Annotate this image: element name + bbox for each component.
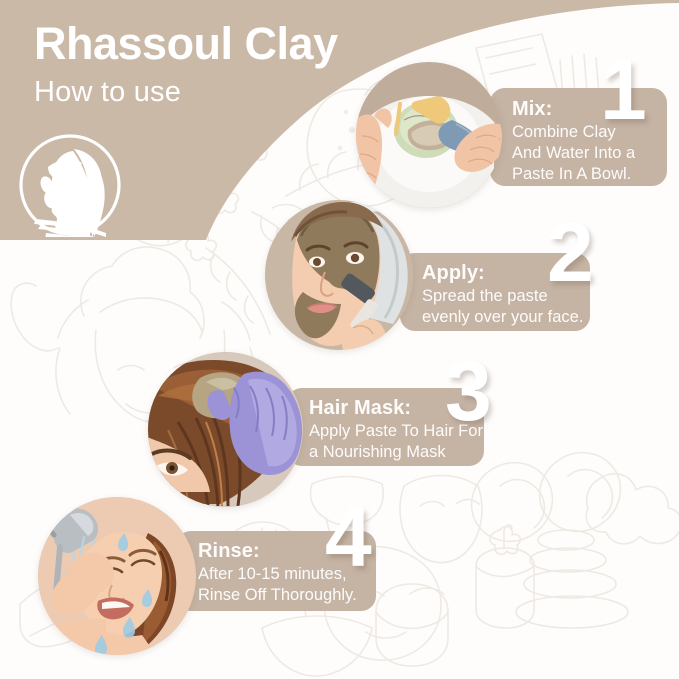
step-1-body: Combine Clay And Water Into a Paste In A… bbox=[512, 122, 667, 185]
step-2-body: Spread the paste evenly over your face. bbox=[422, 286, 590, 328]
step-2-text-box: Apply: Spread the paste evenly over your… bbox=[400, 253, 590, 331]
page-subtitle-white-overlay: How to use bbox=[34, 76, 181, 109]
page-title-white-overlay: Rhassoul Clay bbox=[34, 17, 338, 70]
rinsing-in-shower-photo bbox=[38, 497, 196, 655]
applying-hair-mask-photo bbox=[148, 352, 303, 507]
applying-face-mask-photo bbox=[265, 200, 413, 350]
step-3-text-box: Hair Mask: Apply Paste To Hair For a Nou… bbox=[287, 388, 484, 466]
step-4-text-box: Rinse: After 10-15 minutes, Rinse Off Th… bbox=[176, 531, 376, 611]
page-title: Rhassoul Clay bbox=[34, 17, 338, 70]
mixing-clay-in-bowl-photo bbox=[356, 62, 502, 208]
woman-profile-leaf-logo-icon bbox=[18, 133, 122, 237]
step-2-heading: Apply: bbox=[422, 262, 590, 285]
step-3-heading: Hair Mask: bbox=[309, 397, 484, 420]
step-4-body: After 10-15 minutes, Rinse Off Thoroughl… bbox=[198, 564, 376, 606]
step-3-body: Apply Paste To Hair For a Nourishing Mas… bbox=[309, 421, 484, 463]
step-4-heading: Rinse: bbox=[198, 540, 376, 563]
infographic-poster: Rhassoul Clay How to use Rhassoul Clay H… bbox=[0, 0, 679, 679]
step-1-text-box: Mix: Combine Clay And Water Into a Paste… bbox=[490, 88, 667, 186]
step-1-heading: Mix: bbox=[512, 98, 667, 121]
page-subtitle: How to use bbox=[34, 76, 181, 109]
